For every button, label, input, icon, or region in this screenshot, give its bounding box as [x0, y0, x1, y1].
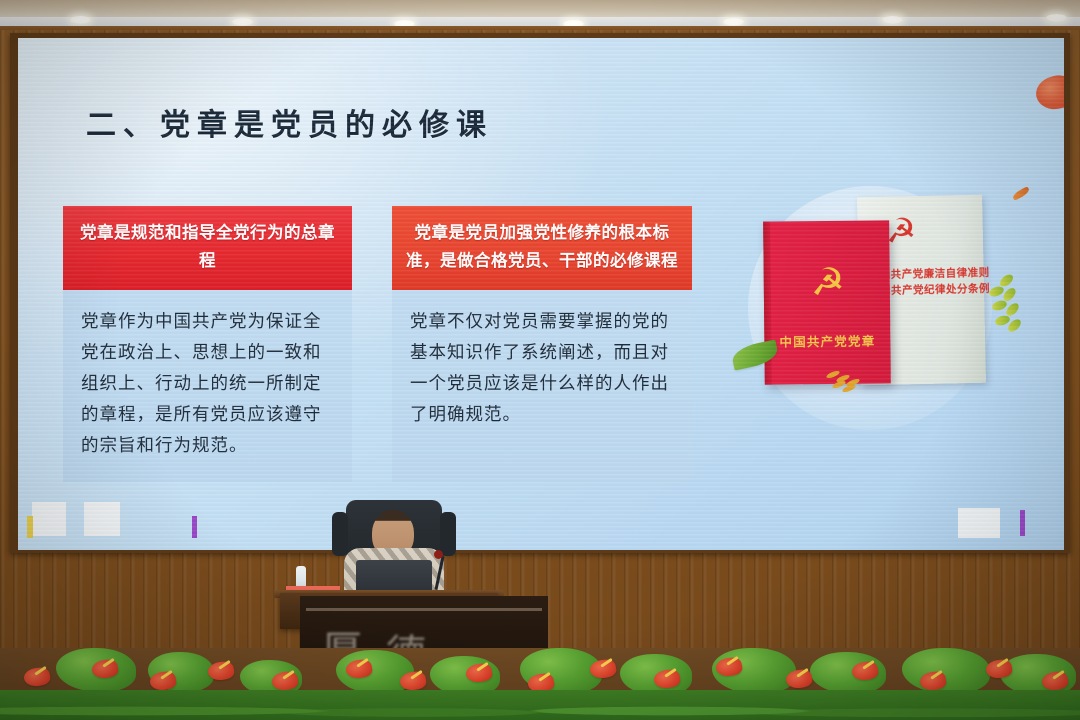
party-constitution-book: ☭ 中国共产党党章 [763, 220, 891, 384]
laptop [356, 560, 432, 594]
panel-rail [306, 608, 542, 611]
led-screen: 二、党章是党员的必修课 党章是规范和指导全党行为的总章程 党章作为中国共产党为保… [18, 38, 1064, 550]
led-panel-artifact [32, 502, 66, 536]
ceiling-downlight [882, 16, 903, 24]
led-panel-artifact [1020, 510, 1025, 536]
body-text-right: 党章不仅对党员需要掌握的党的基本知识作了系统阐述，而且对一个党员应该是什么样的人… [392, 290, 692, 482]
body-left-text: 党章作为中国共产党为保证全党在政治上、思想上的一致和组织上、行动上的统一所制定的… [81, 312, 322, 456]
banner-left: 党章是规范和指导全党行为的总章程 [63, 206, 352, 290]
ceiling-downlight [1046, 14, 1067, 22]
conference-hall-photo: 二、党章是党员的必修课 党章是规范和指导全党行为的总章程 党章作为中国共产党为保… [0, 0, 1080, 720]
foliage-ground-cover [0, 690, 1080, 720]
slide-column-left: 党章是规范和指导全党行为的总章程 党章作为中国共产党为保证全党在政治上、思想上的… [63, 206, 352, 482]
petal-decoration-large [1033, 72, 1064, 114]
banner-right-text: 党章是党员加强党性修养的根本标准，是做合格党员、干部的必修课程 [406, 223, 678, 270]
led-panel-artifact [27, 516, 33, 538]
led-panel-artifact [192, 516, 197, 538]
ceiling-downlight [723, 18, 744, 26]
microphone-icon [434, 550, 443, 559]
ceiling-downlight [70, 16, 91, 24]
banner-left-text: 党章是规范和指导全党行为的总章程 [80, 223, 335, 270]
led-panel-artifact [958, 508, 1000, 538]
slide-title: 二、党章是党员的必修课 [86, 100, 493, 144]
ceiling-downlight [232, 18, 253, 26]
book-illustration: ☭ 中国共产党廉洁自律准则 中国共产党纪律处分条例 ☭ 中国共产党党章 [730, 168, 1040, 418]
body-right-text: 党章不仅对党员需要掌握的党的基本知识作了系统阐述，而且对一个党员应该是什么样的人… [410, 312, 669, 425]
body-text-left: 党章作为中国共产党为保证全党在政治上、思想上的一致和组织上、行动上的统一所制定的… [63, 290, 352, 482]
hammer-sickle-icon: ☭ [804, 263, 852, 304]
water-bottle [296, 566, 306, 588]
sprig-decoration [983, 276, 1027, 348]
chair-wing-left [332, 512, 348, 556]
wheat-decoration [826, 370, 870, 392]
party-constitution-book-title: 中国共产党党章 [764, 330, 890, 350]
slide-column-right: 党章是党员加强党性修养的根本标准，是做合格党员、干部的必修课程 党章不仅对党员需… [392, 206, 692, 482]
banner-right: 党章是党员加强党性修养的根本标准，是做合格党员、干部的必修课程 [392, 206, 692, 290]
chair-wing-right [440, 512, 456, 556]
hammer-sickle-icon: ☭ [885, 214, 930, 249]
led-panel-artifact [84, 502, 120, 536]
